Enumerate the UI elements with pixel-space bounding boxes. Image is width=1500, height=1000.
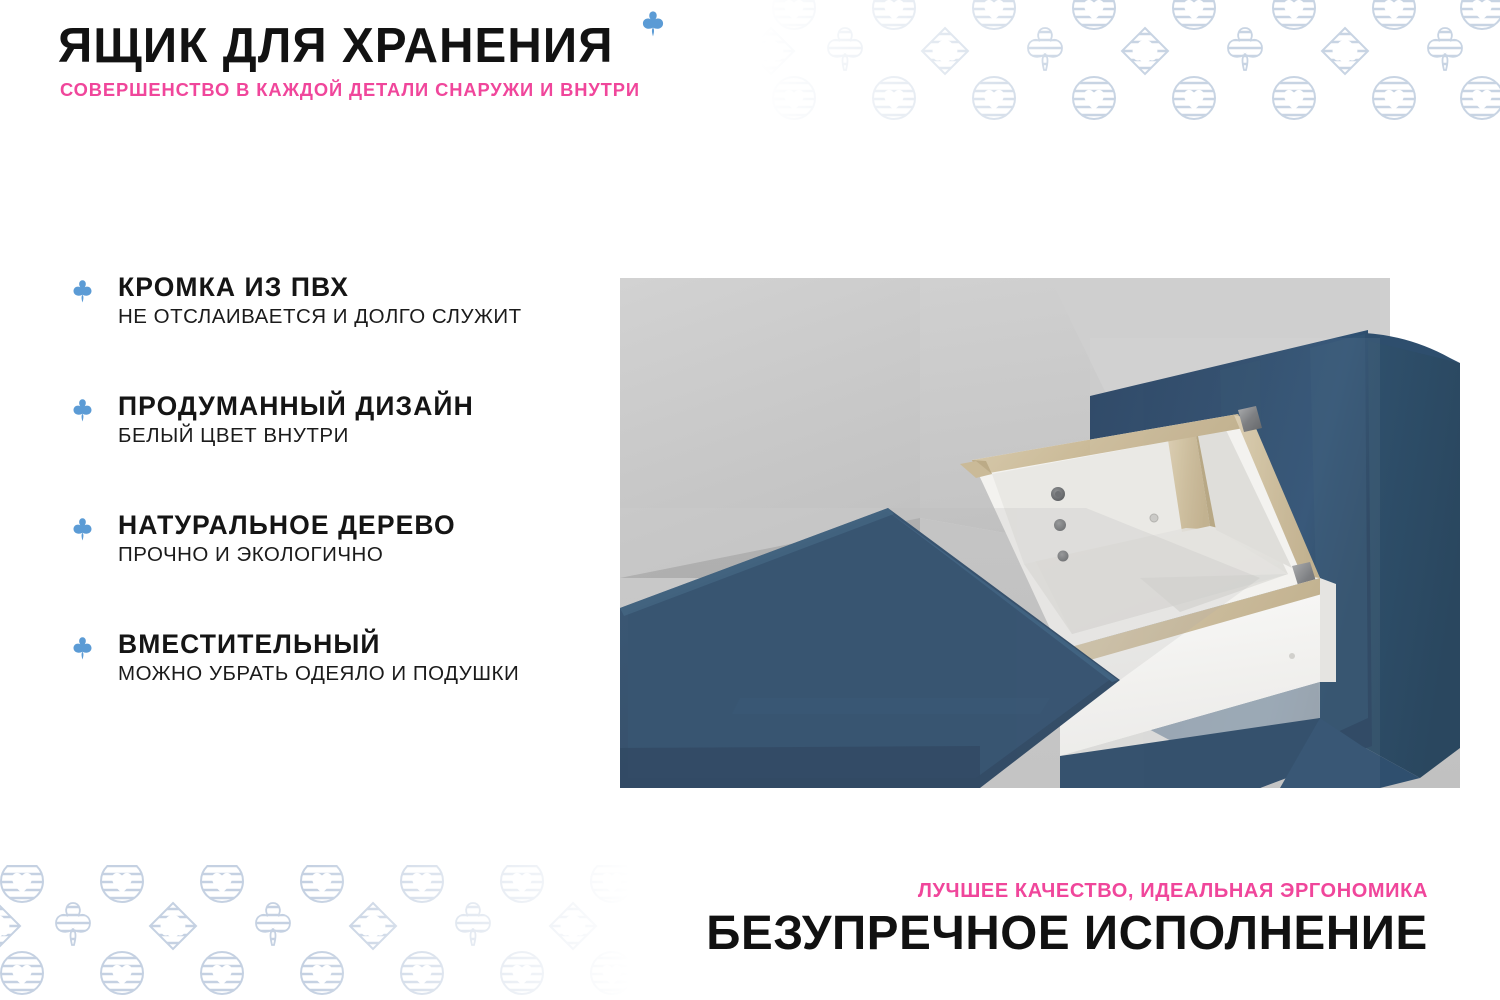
feature-title: ВМЕСТИТЕЛЬНЫЙ <box>118 629 590 660</box>
feature-subtitle: НЕ ОТСЛАИВАЕТСЯ И ДОЛГО СЛУЖИТ <box>118 304 590 329</box>
feature-subtitle: МОЖНО УБРАТЬ ОДЕЯЛО И ПОДУШКИ <box>118 661 590 686</box>
clover-icon <box>70 279 95 304</box>
feature-list: КРОМКА ИЗ ПВХ НЕ ОТСЛАИВАЕТСЯ И ДОЛГО СЛ… <box>70 272 590 686</box>
ornament-pattern-top-right <box>760 0 1500 120</box>
feature-title: КРОМКА ИЗ ПВХ <box>118 272 590 303</box>
feature-item-pvc-edge: КРОМКА ИЗ ПВХ НЕ ОТСЛАИВАЕТСЯ И ДОЛГО СЛ… <box>70 272 590 329</box>
feature-subtitle: БЕЛЫЙ ЦВЕТ ВНУТРИ <box>118 423 590 448</box>
ornament-pattern-bottom-left <box>0 865 630 1000</box>
product-photo <box>620 278 1460 788</box>
footer-block: ЛУЧШЕЕ КАЧЕСТВО, ИДЕАЛЬНАЯ ЭРГОНОМИКА БЕ… <box>699 879 1428 962</box>
page-title: ЯЩИК ДЛЯ ХРАНЕНИЯ <box>58 18 614 74</box>
clover-icon <box>639 10 667 38</box>
footer-kicker: ЛУЧШЕЕ КАЧЕСТВО, ИДЕАЛЬНАЯ ЭРГОНОМИКА <box>699 879 1428 903</box>
page-subtitle: СОВЕРШЕНСТВО В КАЖДОЙ ДЕТАЛИ СНАРУЖИ И В… <box>60 79 810 101</box>
feature-item-capacity: ВМЕСТИТЕЛЬНЫЙ МОЖНО УБРАТЬ ОДЕЯЛО И ПОДУ… <box>70 629 590 686</box>
clover-icon <box>70 517 95 542</box>
feature-item-natural-wood: НАТУРАЛЬНОЕ ДЕРЕВО ПРОЧНО И ЭКОЛОГИЧНО <box>70 510 590 567</box>
title-row: ЯЩИК ДЛЯ ХРАНЕНИЯ <box>58 18 631 74</box>
feature-title: ПРОДУМАННЫЙ ДИЗАЙН <box>118 391 590 422</box>
footer-headline: БЕЗУПРЕЧНОЕ ИСПОЛНЕНИЕ <box>707 906 1428 962</box>
header-block: ЯЩИК ДЛЯ ХРАНЕНИЯ СОВЕРШЕНСТВО В КАЖДОЙ … <box>58 18 818 101</box>
feature-subtitle: ПРОЧНО И ЭКОЛОГИЧНО <box>118 542 590 567</box>
feature-item-design: ПРОДУМАННЫЙ ДИЗАЙН БЕЛЫЙ ЦВЕТ ВНУТРИ <box>70 391 590 448</box>
feature-title: НАТУРАЛЬНОЕ ДЕРЕВО <box>118 510 590 541</box>
clover-icon <box>70 398 95 423</box>
infographic-page: ЯЩИК ДЛЯ ХРАНЕНИЯ СОВЕРШЕНСТВО В КАЖДОЙ … <box>0 0 1500 1000</box>
clover-icon <box>70 636 95 661</box>
